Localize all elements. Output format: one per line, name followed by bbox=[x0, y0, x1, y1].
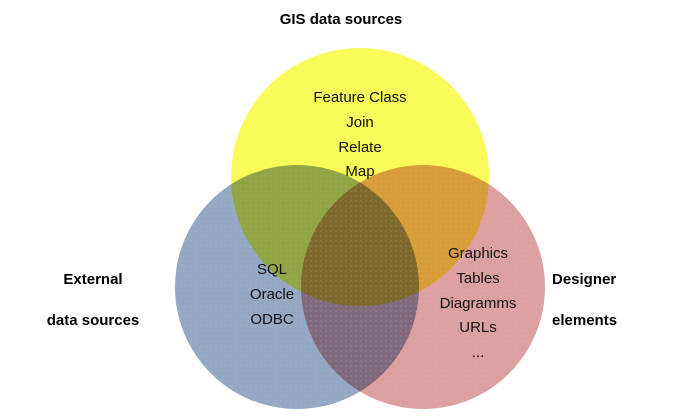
set-item: Join bbox=[262, 111, 458, 136]
set-items-gis: Feature Class Join Relate Map bbox=[262, 86, 458, 185]
set-label-external: External data sources bbox=[18, 250, 168, 351]
set-item: Oracle bbox=[196, 283, 348, 308]
set-items-external: SQL Oracle ODBC bbox=[196, 258, 348, 332]
set-item: Graphics bbox=[398, 242, 558, 267]
set-label-designer-line1: Designer bbox=[552, 270, 672, 290]
set-item: Map bbox=[262, 160, 458, 185]
set-item: ODBC bbox=[196, 308, 348, 333]
set-item: Feature Class bbox=[262, 86, 458, 111]
set-item: ... bbox=[398, 341, 558, 366]
set-label-designer-line2: elements bbox=[552, 311, 672, 331]
set-item: URLs bbox=[398, 316, 558, 341]
set-label-gis: GIS data sources bbox=[0, 10, 682, 30]
set-item: Relate bbox=[262, 136, 458, 161]
set-item: SQL bbox=[196, 258, 348, 283]
set-label-external-line1: External bbox=[18, 270, 168, 290]
venn-circles-svg bbox=[0, 0, 682, 417]
set-label-designer: Designer elements bbox=[552, 250, 672, 351]
set-items-designer: Graphics Tables Diagramms URLs ... bbox=[398, 242, 558, 366]
set-item: Diagramms bbox=[398, 292, 558, 317]
venn-diagram: GIS data sources External data sources D… bbox=[0, 0, 682, 417]
set-item: Tables bbox=[398, 267, 558, 292]
set-label-external-line2: data sources bbox=[18, 311, 168, 331]
